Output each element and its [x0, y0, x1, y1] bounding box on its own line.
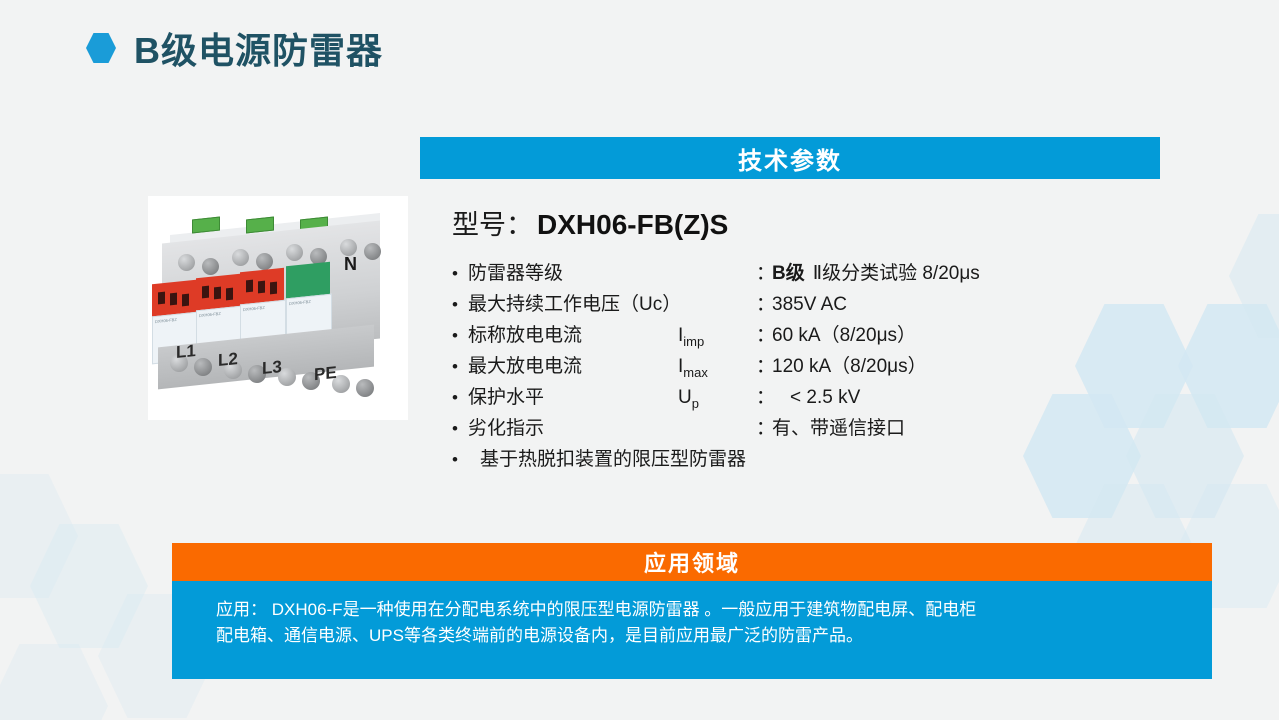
screw [256, 253, 273, 270]
spec-value: < 2.5 kV [790, 387, 860, 409]
model-number-line: 型号： DXH06-FB(Z)S [452, 203, 728, 242]
spec-row: • 保护水平 Up ： < 2.5 kV [452, 382, 1072, 413]
status-window [182, 294, 189, 307]
bullet-icon: • [452, 265, 468, 282]
application-header-text: 应用领域 [644, 546, 740, 578]
spec-colon: ： [756, 382, 772, 409]
model-number-label: 型号： [452, 203, 533, 242]
application-panel: 应用领域 应用： DXH06-F是一种使用在分配电系统中的限压型电源防雷器 。一… [172, 543, 1212, 679]
spec-value: 60 kA（8/20μs） [772, 320, 916, 347]
spec-value: 120 kA（8/20μs） [772, 351, 927, 378]
spec-colon: ： [756, 320, 772, 347]
application-body: 应用： DXH06-F是一种使用在分配电系统中的限压型电源防雷器 。一般应用于建… [172, 581, 1212, 679]
application-line-1: 应用： DXH06-F是一种使用在分配电系统中的限压型电源防雷器 。一般应用于建… [216, 597, 1198, 623]
spec-value: 有、带遥信接口 [772, 413, 905, 440]
status-window [270, 282, 277, 295]
spec-name: 保护水平 [468, 382, 678, 409]
bullet-icon: • [452, 358, 468, 375]
spec-final-note: 基于热脱扣装置的限压型防雷器 [480, 444, 746, 471]
spec-symbol: Up [678, 387, 756, 411]
screw-hole [232, 249, 249, 266]
spec-colon: ： [756, 289, 772, 316]
spec-row-note: • 基于热脱扣装置的限压型防雷器 [452, 444, 1072, 475]
hex-watermark [0, 640, 108, 720]
bullet-icon: • [452, 451, 468, 468]
hex-watermark [1075, 300, 1193, 432]
spec-value: Ⅱ级分类试验 8/20μs [813, 258, 980, 285]
hex-watermark [0, 470, 78, 602]
bullet-icon: • [452, 327, 468, 344]
screw [194, 358, 212, 376]
spec-name: 劣化指示 [468, 413, 678, 440]
spec-value: 385V AC [772, 294, 847, 316]
status-window [202, 286, 209, 299]
pole-label-l3: L3 [262, 357, 282, 379]
spec-symbol: Iimp [678, 325, 756, 349]
bullet-icon: • [452, 296, 468, 313]
pole-label-l2: L2 [218, 349, 238, 371]
hex-watermark [1178, 300, 1279, 432]
spec-symbol-subscript: max [683, 365, 708, 380]
model-number-value: DXH06-FB(Z)S [537, 209, 728, 241]
screw [364, 243, 381, 260]
page-title-text: B级电源防雷器 [134, 22, 383, 74]
spec-colon: ： [756, 258, 772, 285]
spec-symbol-subscript: imp [683, 334, 704, 349]
page-title: B级电源防雷器 [86, 22, 383, 74]
status-window [158, 292, 165, 305]
spec-colon: ： [756, 413, 772, 440]
spec-value-bold: B级 [772, 258, 805, 285]
spec-name: 最大持续工作电压（Uc） [468, 289, 678, 316]
tech-parameters-panel: 技术参数 [420, 137, 1160, 179]
spec-row: • 标称放电电流 Iimp ： 60 kA（8/20μs） [452, 320, 1072, 351]
screw [356, 379, 374, 397]
screw-hole [178, 254, 195, 271]
hexagon-icon [86, 32, 116, 64]
spec-list: • 防雷器等级 ： B级 Ⅱ级分类试验 8/20μs • 最大持续工作电压（Uc… [452, 258, 1072, 475]
tech-parameters-header-text: 技术参数 [738, 141, 842, 176]
pole-label-pe: PE [314, 363, 337, 385]
terminal-green [246, 217, 274, 234]
spec-row: • 劣化指示 ： 有、带遥信接口 [452, 413, 1072, 444]
hex-watermark [1126, 390, 1244, 522]
tech-parameters-header: 技术参数 [420, 137, 1160, 179]
status-window [170, 293, 177, 306]
spec-name: 防雷器等级 [468, 258, 678, 285]
spec-row: • 最大放电电流 Imax ： 120 kA（8/20μs） [452, 351, 1072, 382]
spec-row: • 防雷器等级 ： B级 Ⅱ级分类试验 8/20μs [452, 258, 1072, 289]
spec-name: 最大放电电流 [468, 351, 678, 378]
bullet-icon: • [452, 389, 468, 406]
pole-label-l1: L1 [176, 341, 196, 363]
status-window [258, 281, 265, 294]
status-window [246, 280, 253, 293]
hex-watermark [1229, 210, 1279, 342]
application-header: 应用领域 [172, 543, 1212, 581]
product-photo: N DXH06-FBZ DXH06-FBZ DXH06-FBZ DXH06-FB… [148, 196, 408, 420]
spec-name: 标称放电电流 [468, 320, 678, 347]
spec-colon: ： [756, 351, 772, 378]
screw-hole [286, 244, 303, 261]
status-window [214, 287, 221, 300]
spec-symbol-subscript: p [692, 396, 699, 411]
status-window [226, 288, 233, 301]
spec-symbol-base: U [678, 387, 692, 408]
spec-row: • 最大持续工作电压（Uc） ： 385V AC [452, 289, 1072, 320]
screw [202, 258, 219, 275]
terminal-green [192, 217, 220, 234]
hex-watermark [30, 520, 148, 652]
neutral-pole-label: N [344, 254, 357, 275]
spec-symbol: Imax [678, 356, 756, 380]
application-line-2: 配电箱、通信电源、UPS等各类终端前的电源设备内，是目前应用最广泛的防雷产品。 [216, 623, 1198, 649]
bullet-icon: • [452, 420, 468, 437]
